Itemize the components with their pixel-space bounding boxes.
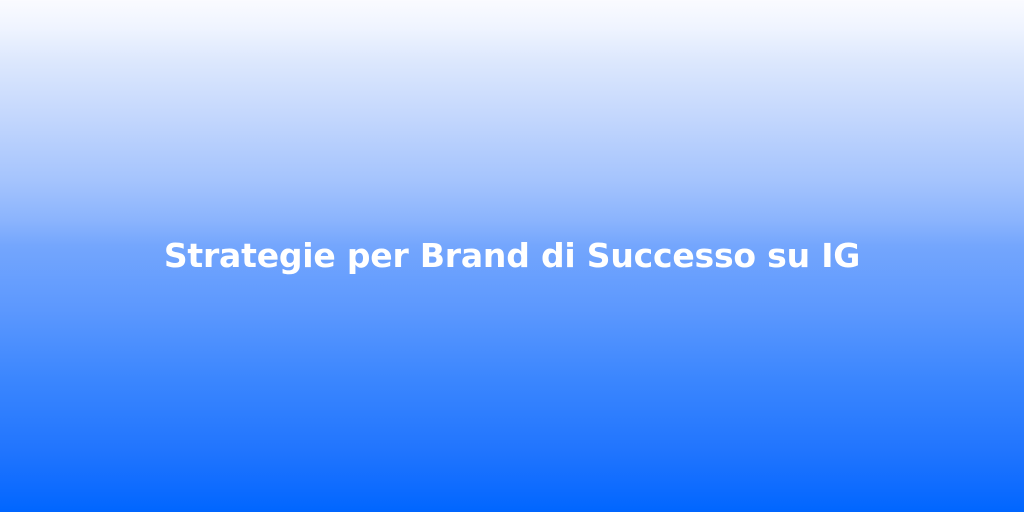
banner-canvas: Strategie per Brand di Successo su IG xyxy=(0,0,1024,512)
headline-container: Strategie per Brand di Successo su IG xyxy=(0,236,1024,276)
banner-headline: Strategie per Brand di Successo su IG xyxy=(164,236,860,276)
